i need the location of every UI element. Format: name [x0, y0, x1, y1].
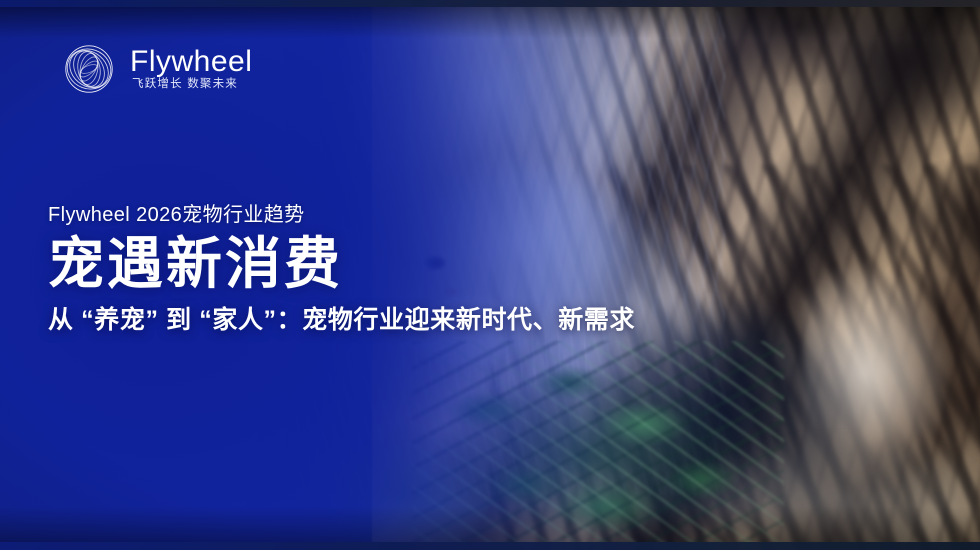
letterbox-bar-top: [0, 0, 980, 7]
presentation-slide: Flywheel 飞跃增长 数聚未来 Flywheel 2026宠物行业趋势 宠…: [0, 0, 980, 550]
logo-wordmark: Flywheel: [130, 47, 252, 77]
title-block: Flywheel 2026宠物行业趋势 宠遇新消费 从 “养宠” 到 “家人”：…: [48, 203, 635, 336]
letterbox-bar-bottom: [0, 542, 980, 550]
brand-logo-lockup: Flywheel 飞跃增长 数聚未来: [60, 40, 252, 98]
logo-text-column: Flywheel 飞跃增长 数聚未来: [130, 47, 252, 91]
logo-tagline: 飞跃增长 数聚未来: [130, 79, 252, 91]
eyebrow-text: Flywheel 2026宠物行业趋势: [48, 203, 635, 228]
page-title: 宠遇新消费: [48, 235, 635, 293]
flywheel-spiral-icon: [60, 40, 118, 98]
subtitle-text: 从 “养宠” 到 “家人”：宠物行业迎来新时代、新需求: [48, 305, 635, 336]
